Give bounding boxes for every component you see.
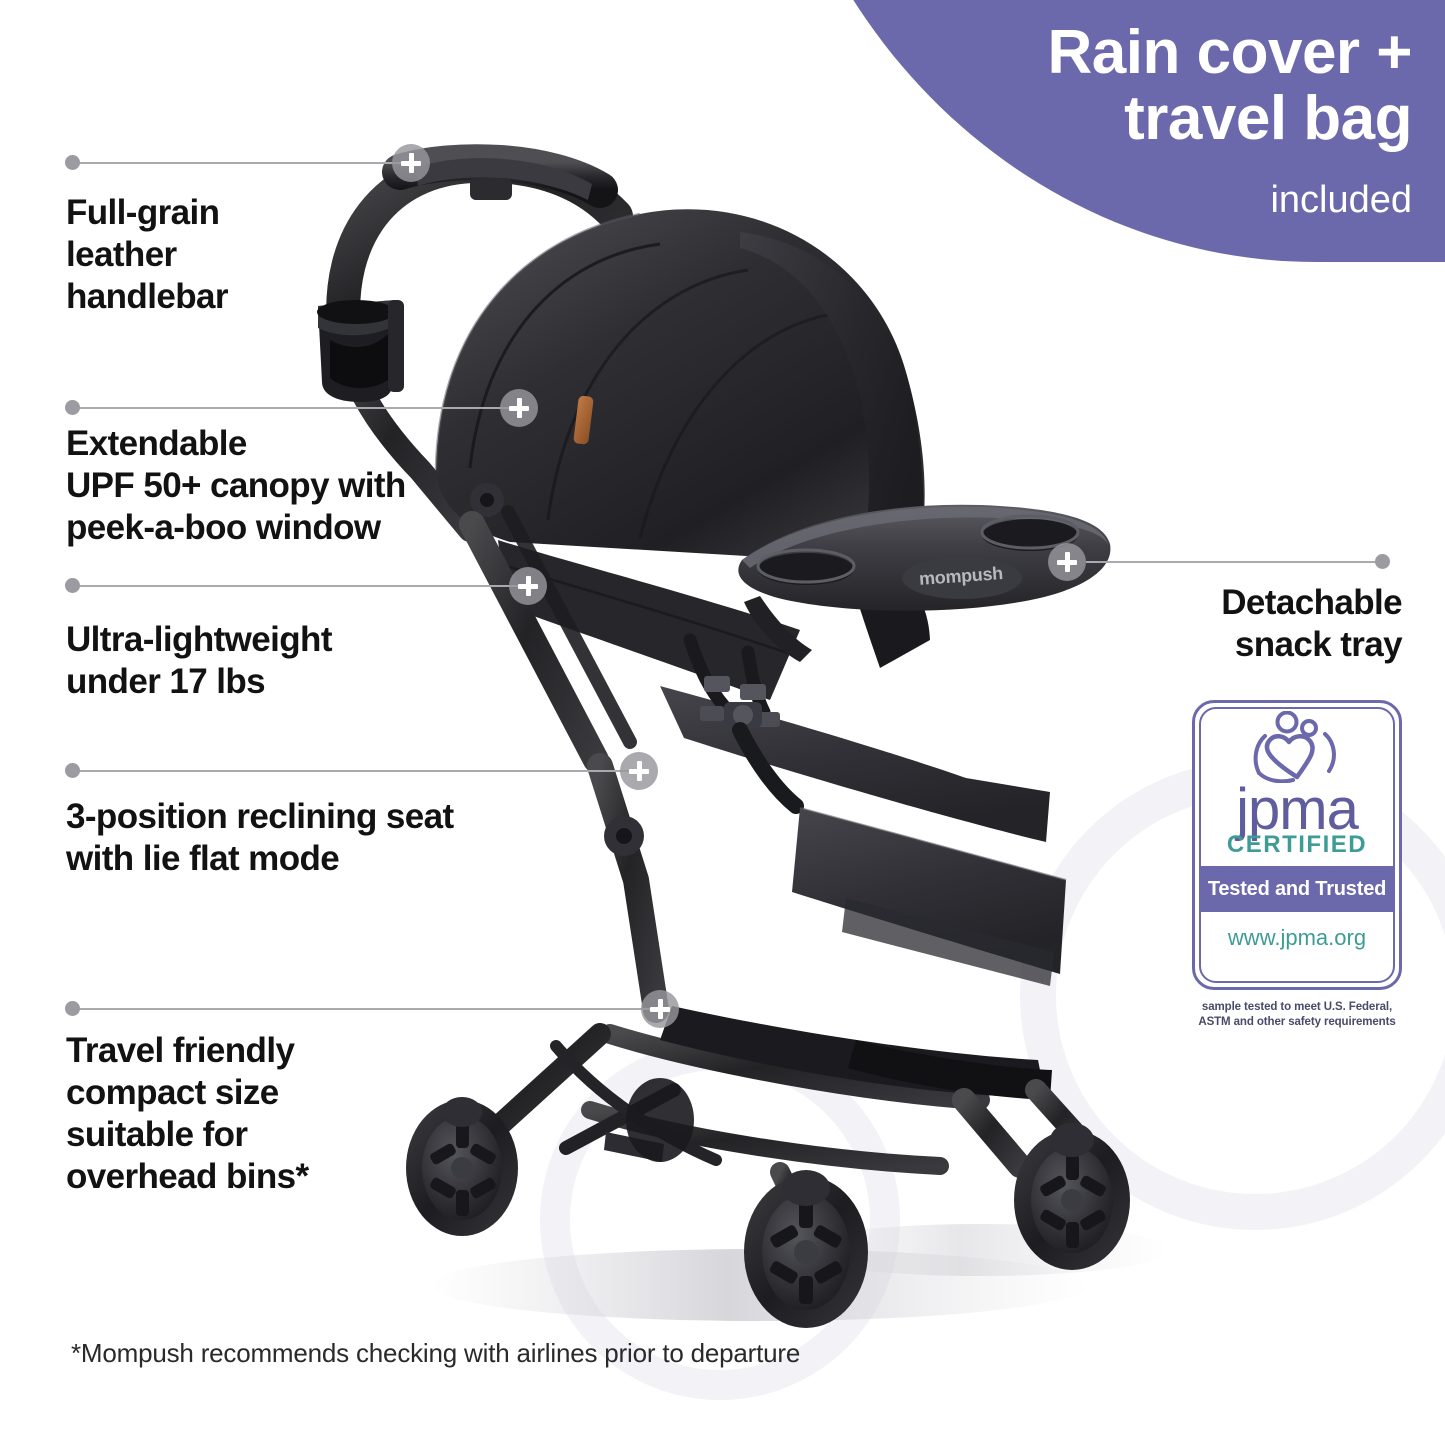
leader-dot-compact (65, 1001, 80, 1016)
leader-line-canopy (73, 407, 520, 409)
plus-marker-handlebar[interactable] (392, 144, 430, 182)
feature-label-snack-tray: Detachablesnack tray (1040, 582, 1402, 666)
leader-line-handlebar (73, 162, 412, 164)
promo-banner-line3: included (800, 178, 1412, 222)
feature-label-canopy: ExtendableUPF 50+ canopy withpeek-a-boo … (66, 423, 456, 549)
leader-dot-snack-tray (1375, 554, 1390, 569)
plus-marker-lightweight[interactable] (509, 567, 547, 605)
leader-dot-lightweight (65, 578, 80, 593)
feature-label-lightweight: Ultra-lightweightunder 17 lbs (66, 619, 426, 703)
leader-dot-canopy (65, 400, 80, 415)
feature-label-compact: Travel friendlycompact sizesuitable foro… (66, 1030, 396, 1198)
infographic-canvas: Rain cover + travel bag included (0, 0, 1445, 1445)
promo-banner-line1: Rain cover + (800, 20, 1412, 86)
plus-marker-compact[interactable] (641, 990, 679, 1028)
plus-marker-recline[interactable] (620, 752, 658, 790)
feature-label-recline: 3-position reclining seatwith lie flat m… (66, 796, 496, 880)
jpma-heart-family-icon (1251, 711, 1343, 783)
jpma-tested-trusted-text: Tested and Trusted (1208, 878, 1386, 901)
promo-banner-text: Rain cover + travel bag included (800, 20, 1412, 222)
leader-line-compact (73, 1008, 659, 1010)
leader-line-recline (73, 770, 639, 772)
leader-dot-recline (65, 763, 80, 778)
plus-marker-snack-tray[interactable] (1048, 543, 1086, 581)
feature-label-handlebar: Full-grainleatherhandlebar (66, 192, 396, 318)
jpma-badge-card: jpma CERTIFIED Tested and Trusted www.jp… (1192, 700, 1402, 990)
leader-dot-handlebar (65, 155, 80, 170)
leader-line-lightweight (73, 585, 528, 587)
jpma-certified-badge: jpma CERTIFIED Tested and Trusted www.jp… (1192, 700, 1402, 1030)
jpma-certified-text: CERTIFIED (1195, 831, 1399, 859)
jpma-tested-trusted-bar: Tested and Trusted (1199, 866, 1395, 912)
jpma-url: www.jpma.org (1195, 925, 1399, 951)
promo-banner-line2: travel bag (800, 86, 1412, 152)
leader-line-snack-tray (1086, 561, 1383, 563)
jpma-caption: sample tested to meet U.S. Federal,ASTM … (1192, 1000, 1402, 1030)
footnote-text: *Mompush recommends checking with airlin… (71, 1338, 800, 1369)
plus-marker-canopy[interactable] (500, 389, 538, 427)
